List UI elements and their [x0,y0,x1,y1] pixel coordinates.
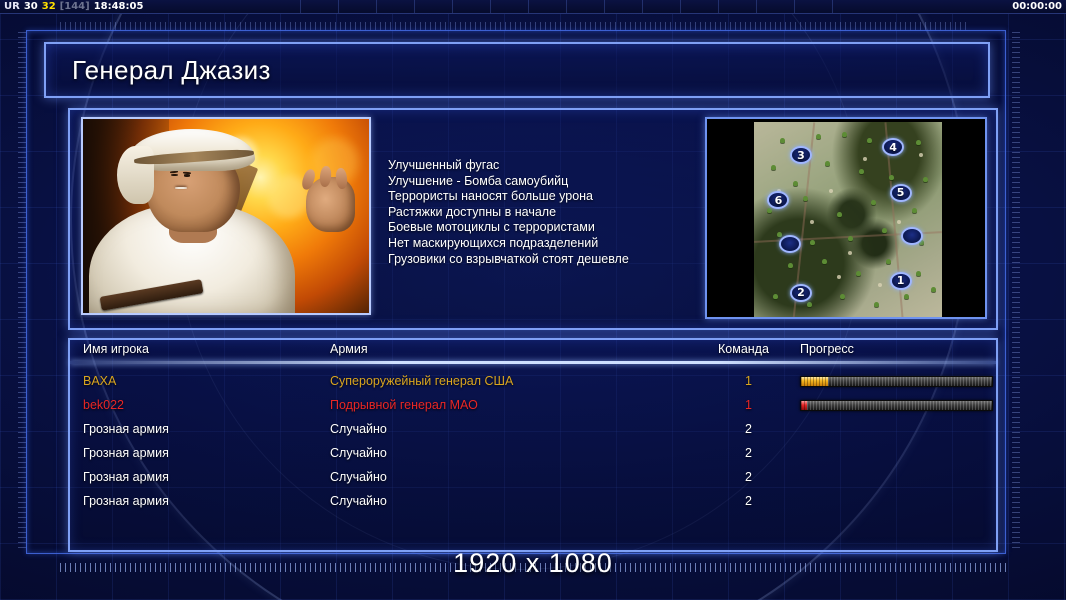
map-tree-marker [837,212,842,217]
map-rock-marker [810,220,814,224]
map-tree-marker [825,161,830,166]
map-start-position-6[interactable]: 6 [767,191,789,209]
topbar-clock: 18:48:05 [94,0,144,14]
map-tree-marker [848,236,853,241]
general-portrait [81,117,371,315]
map-tree-marker [788,263,793,268]
general-ability-list: Улучшенный фугасУлучшение - Бомба самоуб… [388,158,718,267]
player-army-cell: Случайно [330,421,387,437]
player-team-cell: 1 [745,373,752,389]
top-status-bar: UR 30 32 [144] 18:48:05 00:00:00 [0,0,1066,14]
map-tree-marker [931,287,936,292]
page-title: Генерал Джазиз [46,55,271,86]
map-rock-marker [863,157,867,161]
map-start-position-empty[interactable] [779,235,801,253]
column-header-team: Команда [718,342,769,356]
map-tree-marker [810,240,815,245]
player-team-cell: 2 [745,421,752,437]
map-rock-marker [919,153,923,157]
ability-line: Террористы наносят больше урона [388,189,718,205]
topbar-timer: 00:00:00 [1012,0,1062,14]
table-row[interactable]: Грозная армияСлучайно2 [70,490,996,514]
topbar-bracket-value: [144] [60,0,90,14]
map-rock-marker [837,275,841,279]
player-army-cell: Случайно [330,469,387,485]
player-team-cell: 2 [745,493,752,509]
topbar-value-1: 30 [24,0,38,14]
map-tree-marker [771,165,776,170]
table-row[interactable]: BAXAСупероружейный генерал США1 [70,370,996,394]
figure-eye-right [184,174,191,176]
ability-line: Растяжки доступны в начале [388,205,718,221]
map-rock-marker [878,283,882,287]
column-header-name: Имя игрока [83,342,149,356]
general-info-panel: Улучшенный фугасУлучшение - Бомба самоуб… [68,108,998,330]
topbar-value-2: 32 [42,0,56,14]
map-tree-marker [807,302,812,307]
map-tree-marker [889,175,894,180]
player-progress-fill [801,377,828,386]
player-name-cell: bek022 [83,397,124,413]
map-tree-marker [780,138,785,143]
player-name-cell: Грозная армия [83,445,169,461]
map-tree-marker [916,271,921,276]
map-tree-marker [840,294,845,299]
table-row[interactable]: Грозная армияСлучайно2 [70,466,996,490]
player-army-cell: Случайно [330,445,387,461]
topbar-label: UR [4,0,20,14]
player-progress-bar [800,376,993,387]
table-row[interactable]: bek022Подрывной генерал МАО1 [70,394,996,418]
player-list-header: Имя игрока Армия Команда Прогресс [70,340,996,362]
player-army-cell: Подрывной генерал МАО [330,397,478,413]
header-panel: Генерал Джазиз [44,42,990,98]
player-team-cell: 2 [745,445,752,461]
map-start-position-empty[interactable] [901,227,923,245]
map-tree-marker [793,181,798,186]
figure-headwrap-side [117,146,154,204]
header-divider [70,361,996,364]
player-team-cell: 2 [745,469,752,485]
map-tree-marker [916,140,921,145]
player-army-cell: Случайно [330,493,387,509]
map-tree-marker [904,294,909,299]
map-tree-marker [882,228,887,233]
topbar-tick-marks [300,0,866,13]
map-tree-marker [923,177,928,182]
map-tree-marker [856,271,861,276]
column-header-progress: Прогресс [800,342,854,356]
map-rock-marker [897,220,901,224]
map-rock-marker [848,251,852,255]
topbar-left-group: UR 30 32 [144] 18:48:05 [4,0,143,14]
figure-hand [306,177,355,231]
resolution-overlay: 1920 x 1080 [0,548,1066,579]
map-tree-marker [867,138,872,143]
ability-line: Нет маскирующихся подразделений [388,236,718,252]
map-tree-marker [822,259,827,264]
map-tree-marker [842,132,847,137]
table-row[interactable]: Грозная армияСлучайно2 [70,442,996,466]
ability-line: Улучшенный фугас [388,158,718,174]
column-header-army: Армия [330,342,368,356]
ability-line: Боевые мотоциклы с террористами [388,220,718,236]
map-tree-marker [874,302,879,307]
figure-eye-left [171,174,178,176]
map-tree-marker [871,200,876,205]
map-start-position-1[interactable]: 1 [890,272,912,290]
map-tree-marker [859,169,864,174]
player-team-cell: 1 [745,397,752,413]
map-tree-marker [886,259,891,264]
map-preview: 345612 [705,117,987,319]
map-start-position-5[interactable]: 5 [890,184,912,202]
map-tree-marker [816,134,821,139]
topbar-right-group: 00:00:00 [1012,0,1062,14]
map-tree-marker [803,196,808,201]
map-start-position-2[interactable]: 2 [790,284,812,302]
player-name-cell: BAXA [83,373,116,389]
map-tree-marker [767,208,772,213]
table-row[interactable]: Грозная армияСлучайно2 [70,418,996,442]
player-name-cell: Грозная армия [83,421,169,437]
player-name-cell: Грозная армия [83,469,169,485]
player-name-cell: Грозная армия [83,493,169,509]
map-start-position-4[interactable]: 4 [882,138,904,156]
player-army-cell: Супероружейный генерал США [330,373,513,389]
map-terrain: 345612 [754,122,942,318]
ability-line: Улучшение - Бомба самоубийц [388,174,718,190]
player-progress-fill [801,401,807,410]
figure-mouth [175,187,187,189]
player-progress-bar [800,400,993,411]
map-tree-marker [777,232,782,237]
ability-line: Грузовики со взрывчаткой стоят дешевле [388,252,718,268]
map-tree-marker [773,294,778,299]
map-tree-marker [912,208,917,213]
player-list-panel: Имя игрока Армия Команда Прогресс BAXAСу… [68,338,998,552]
map-rock-marker [829,189,833,193]
figure-brow-left [170,171,179,174]
